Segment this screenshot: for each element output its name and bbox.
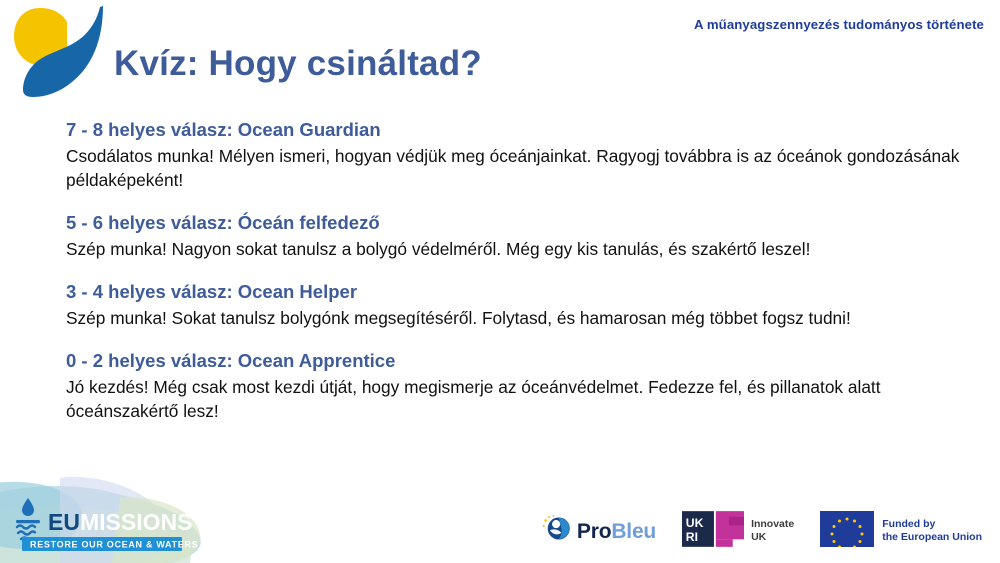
results-list: 7 - 8 helyes válasz: Ocean Guardian Csod… (66, 118, 974, 423)
eu-funding-label: Funded by the European Union (882, 518, 982, 544)
result-block: 5 - 6 helyes válasz: Óceán felfedező Szé… (66, 211, 974, 261)
eu-funding-line2: the European Union (882, 531, 982, 543)
svg-text:RI: RI (686, 530, 698, 544)
innovate-uk-line1: Innovate (751, 518, 794, 530)
ukri-logo: UK RI Innovate UK (682, 511, 794, 552)
result-block: 3 - 4 helyes válasz: Ocean Helper Szép m… (66, 280, 974, 330)
svg-text:UK: UK (686, 516, 704, 530)
eu-funding-line1: Funded by (882, 518, 935, 530)
result-body: Csodálatos munka! Mélyen ismeri, hogyan … (66, 144, 974, 192)
result-block: 7 - 8 helyes válasz: Ocean Guardian Csod… (66, 118, 974, 192)
partner-logo-row: ProBleu UK RI Innovate UK (542, 511, 982, 551)
result-body: Szép munka! Nagyon sokat tanulsz a bolyg… (66, 237, 974, 261)
result-heading: 7 - 8 helyes válasz: Ocean Guardian (66, 118, 974, 143)
eu-missions-footer-logo: EU MISSIONS RESTORE OUR OCEAN & WATERS (0, 468, 250, 563)
result-block: 0 - 2 helyes válasz: Ocean Apprentice Jó… (66, 349, 974, 423)
page-title: Kvíz: Hogy csináltad? (114, 44, 482, 84)
result-heading: 3 - 4 helyes válasz: Ocean Helper (66, 280, 974, 305)
innovate-uk-line2: UK (751, 531, 766, 543)
probleu-swirl-icon (542, 514, 572, 548)
probleu-word-pro: Pro (577, 520, 611, 543)
eu-funding-logo: Funded by the European Union (820, 511, 982, 552)
result-heading: 5 - 6 helyes válasz: Óceán felfedező (66, 211, 974, 236)
header-kicker: A műanyagszennyezés tudományos története (694, 17, 984, 32)
eu-missions-word-missions: MISSIONS (80, 509, 192, 535)
result-heading: 0 - 2 helyes válasz: Ocean Apprentice (66, 349, 974, 374)
innovate-uk-label: Innovate UK (751, 518, 794, 543)
ukri-logo-icon: UK RI (682, 511, 744, 552)
eu-missions-tagline: RESTORE OUR OCEAN & WATERS (30, 540, 198, 550)
slide: A műanyagszennyezés tudományos története… (0, 0, 1000, 563)
eu-missions-word-eu: EU (48, 509, 80, 535)
probleu-wordmark: ProBleu (577, 521, 656, 542)
probleu-logo: ProBleu (542, 514, 656, 548)
result-body: Szép munka! Sokat tanulsz bolygónk megse… (66, 306, 974, 330)
eu-missions-swirl-icon (6, 2, 114, 106)
result-body: Jó kezdés! Még csak most kezdi útját, ho… (66, 375, 974, 423)
eu-flag-icon (820, 511, 874, 552)
probleu-word-bleu: Bleu (611, 520, 656, 543)
